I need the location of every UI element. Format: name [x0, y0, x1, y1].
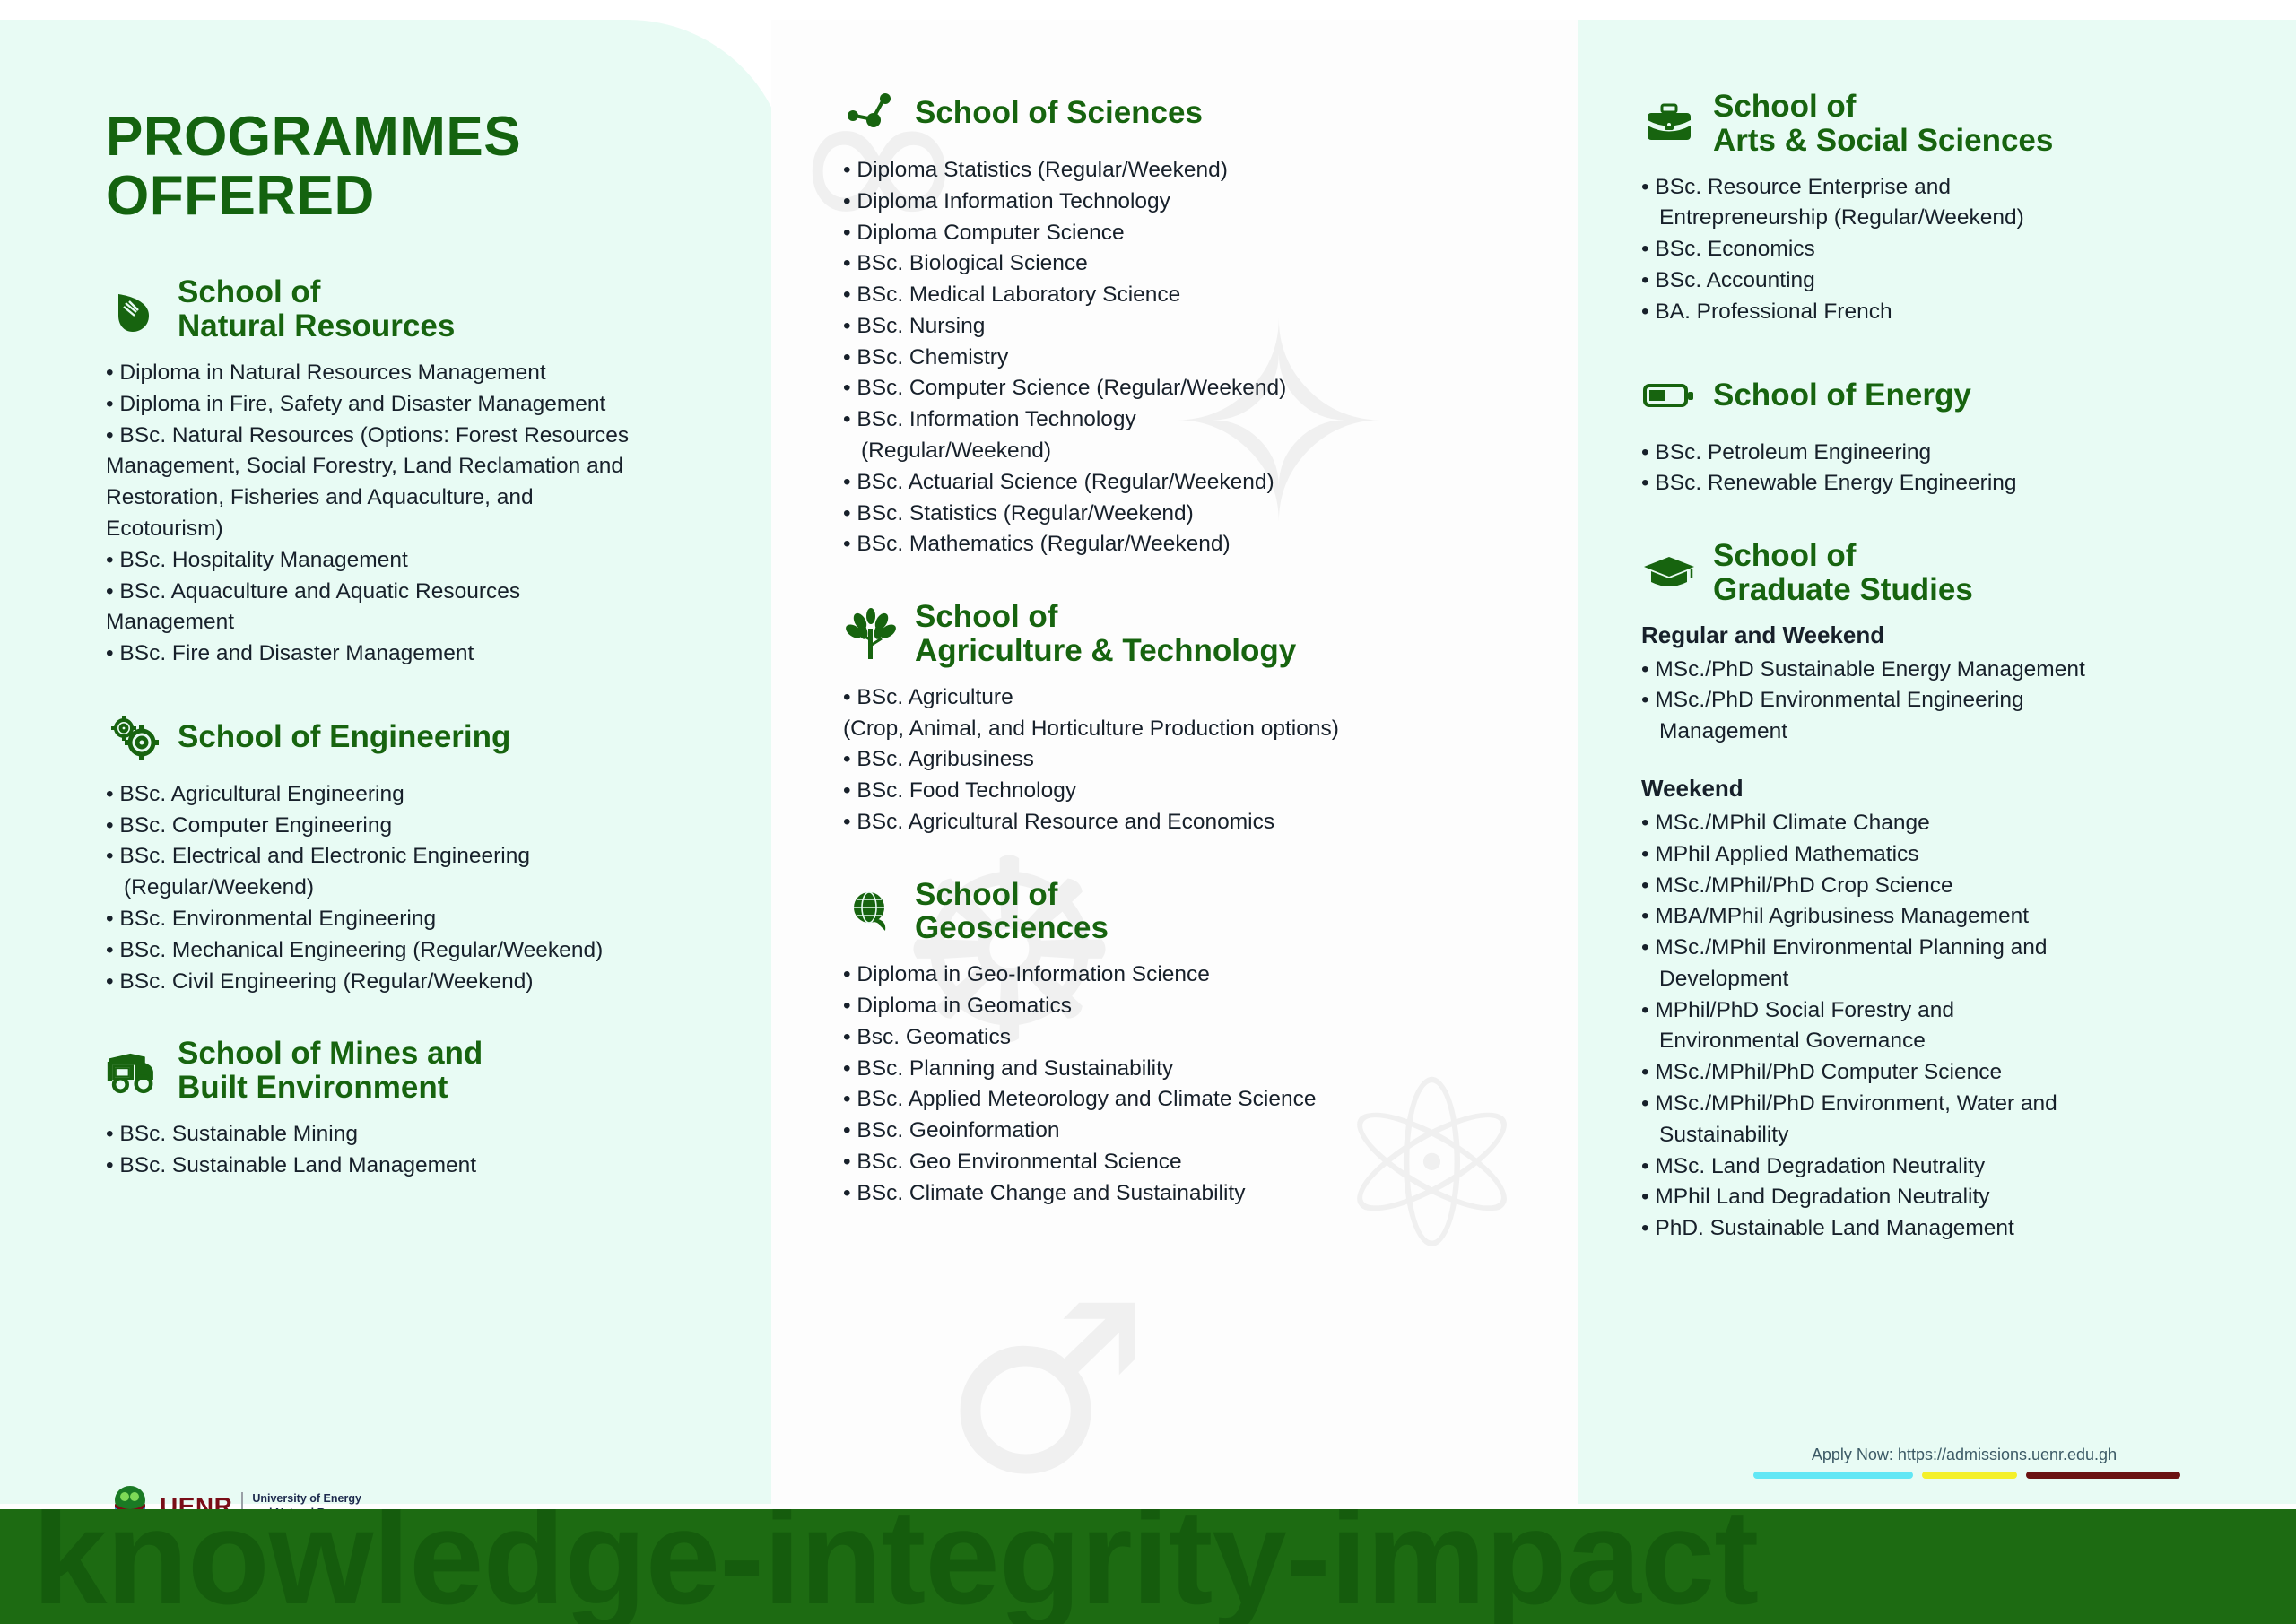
- programme-item: BSc. Mathematics (Regular/Weekend): [843, 529, 1525, 560]
- programme-item: MSc. Land Degradation Neutrality: [1641, 1151, 2233, 1183]
- programme-list: BSc. Sustainable MiningBSc. Sustainable …: [106, 1119, 752, 1182]
- programme-item: BSc. Civil Engineering (Regular/Weekend): [106, 967, 752, 998]
- programme-item: Restoration, Fisheries and Aquaculture, …: [106, 482, 752, 514]
- programme-item: MBA/MPhil Agribusiness Management: [1641, 901, 2233, 933]
- programme-item: BSc. Information Technology: [843, 404, 1525, 436]
- programme-item: Diploma in Natural Resources Management: [106, 358, 752, 389]
- tree-icon: [843, 606, 899, 662]
- programme-item: BSc. Applied Meteorology and Climate Sci…: [843, 1084, 1525, 1116]
- school-header: School of Natural Resources: [106, 275, 752, 343]
- programme-item: BSc. Aquaculture and Aquatic Resources: [106, 577, 752, 608]
- school-name: School of Mines and Built Environment: [178, 1037, 483, 1105]
- programme-item: BSc. Climate Change and Sustainability: [843, 1178, 1525, 1210]
- programme-item: Diploma Statistics (Regular/Weekend): [843, 155, 1525, 187]
- school-name: School of Natural Resources: [178, 275, 455, 343]
- programme-item: BSc. Natural Resources (Options: Forest …: [106, 421, 752, 452]
- programme-item: MSc./MPhil/PhD Environment, Water and: [1641, 1089, 2233, 1120]
- school-block: School of Natural ResourcesDiploma in Na…: [106, 275, 752, 669]
- graduation-cap-icon: [1641, 545, 1697, 601]
- school-block: School of SciencesDiploma Statistics (Re…: [843, 85, 1525, 560]
- programme-item: BSc. Petroleum Engineering: [1641, 438, 2233, 469]
- gears-icon: [106, 709, 161, 765]
- programme-item: Development: [1641, 964, 2233, 995]
- apply-now-link[interactable]: Apply Now: https://admissions.uenr.edu.g…: [1753, 1446, 2175, 1464]
- programme-item: BSc. Agribusiness: [843, 744, 1525, 776]
- programme-list: BSc. Agricultural EngineeringBSc. Comput…: [106, 779, 752, 997]
- briefcase-icon: [1641, 96, 1697, 152]
- programme-item: BA. Professional French: [1641, 297, 2233, 328]
- programme-list: Diploma Statistics (Regular/Weekend)Dipl…: [843, 155, 1525, 560]
- school-name: School of Arts & Social Sciences: [1713, 90, 2053, 158]
- group-spacer: [1641, 748, 2233, 768]
- left-column: PROGRAMMES OFFERED School of Natural Res…: [106, 108, 752, 1220]
- programme-item: MSc./MPhil/PhD Crop Science: [1641, 871, 2233, 902]
- programme-item: Diploma in Geo-Information Science: [843, 960, 1525, 991]
- programme-item: Diploma in Geomatics: [843, 991, 1525, 1022]
- school-header: School of Agriculture & Technology: [843, 600, 1525, 668]
- school-block: School of Agriculture & TechnologyBSc. A…: [843, 600, 1525, 838]
- programme-item: BSc. Resource Enterprise and: [1641, 172, 2233, 204]
- programme-item: Sustainability: [1641, 1120, 2233, 1151]
- school-name: School of Engineering: [178, 720, 510, 754]
- programme-item: Environmental Governance: [1641, 1026, 2233, 1057]
- leaf-droplet-icon: [106, 282, 161, 337]
- school-block: School of EngineeringBSc. Agricultural E…: [106, 709, 752, 997]
- color-bar-cyan: [1753, 1472, 1913, 1479]
- programme-list: BSc. Resource Enterprise andEntrepreneur…: [1641, 172, 2233, 328]
- programme-item: BSc. Computer Science (Regular/Weekend): [843, 373, 1525, 404]
- programme-item: BSc. Sustainable Mining: [106, 1119, 752, 1151]
- programme-list: BSc. Agriculture(Crop, Animal, and Horti…: [843, 682, 1525, 838]
- school-header: School of Graduate Studies: [1641, 539, 2233, 607]
- school-block: School of Arts & Social SciencesBSc. Res…: [1641, 90, 2233, 328]
- programme-item: BSc. Biological Science: [843, 248, 1525, 280]
- color-bar-maroon: [2026, 1472, 2180, 1479]
- banner-tagline: knowledge-integrity-impact: [32, 1509, 1758, 1624]
- programme-item: BSc. Accounting: [1641, 265, 2233, 297]
- page-title: PROGRAMMES OFFERED: [106, 108, 752, 225]
- programme-item: BSc. Fire and Disaster Management: [106, 638, 752, 670]
- globe-icon: [843, 883, 899, 939]
- programme-item: BSc. Geoinformation: [843, 1116, 1525, 1147]
- programme-item: BSc. Renewable Energy Engineering: [1641, 468, 2233, 499]
- color-bar-yellow: [1922, 1472, 2017, 1479]
- programme-item: BSc. Sustainable Land Management: [106, 1151, 752, 1182]
- school-header: School of Engineering: [106, 709, 752, 765]
- programme-item: (Regular/Weekend): [843, 436, 1525, 467]
- school-block: School of GeosciencesDiploma in Geo-Info…: [843, 878, 1525, 1210]
- programme-item: MPhil/PhD Social Forestry and: [1641, 995, 2233, 1027]
- school-name: School of Energy: [1713, 378, 1971, 413]
- school-header: School of Arts & Social Sciences: [1641, 90, 2233, 158]
- school-block: School of Graduate StudiesRegular and We…: [1641, 539, 2233, 1245]
- programme-item: BSc. Electrical and Electronic Engineeri…: [106, 841, 752, 873]
- programme-item: BSc. Hospitality Management: [106, 545, 752, 577]
- programme-item: Management: [1641, 716, 2233, 748]
- school-name: School of Geosciences: [915, 878, 1109, 946]
- programme-item: BSc. Nursing: [843, 311, 1525, 343]
- programme-item: Ecotourism): [106, 514, 752, 545]
- programme-list: BSc. Petroleum EngineeringBSc. Renewable…: [1641, 438, 2233, 500]
- programme-item: (Crop, Animal, and Horticulture Producti…: [843, 714, 1525, 745]
- programme-list: MSc./MPhil Climate ChangeMPhil Applied M…: [1641, 808, 2233, 1245]
- programme-list: Diploma in Natural Resources ManagementD…: [106, 358, 752, 670]
- middle-column: School of SciencesDiploma Statistics (Re…: [843, 85, 1525, 1249]
- programme-item: Diploma in Fire, Safety and Disaster Man…: [106, 389, 752, 421]
- programme-item: BSc. Planning and Sustainability: [843, 1054, 1525, 1085]
- programme-item: MPhil Applied Mathematics: [1641, 839, 2233, 871]
- programme-item: MSc./PhD Environmental Engineering: [1641, 685, 2233, 716]
- apply-color-bars: [1753, 1472, 2175, 1479]
- school-header: School of Energy: [1641, 368, 2233, 423]
- programme-item: Bsc. Geomatics: [843, 1022, 1525, 1054]
- programme-item: BSc. Mechanical Engineering (Regular/Wee…: [106, 935, 752, 967]
- programme-item: MSc./PhD Sustainable Energy Management: [1641, 655, 2233, 686]
- programme-item: Diploma Computer Science: [843, 218, 1525, 249]
- programme-item: MSc./MPhil Climate Change: [1641, 808, 2233, 839]
- programme-item: Diploma Information Technology: [843, 187, 1525, 218]
- school-name: School of Graduate Studies: [1713, 539, 1973, 607]
- programme-list: Diploma in Geo-Information ScienceDiplom…: [843, 960, 1525, 1209]
- programme-item: MSc./MPhil/PhD Computer Science: [1641, 1057, 2233, 1089]
- school-header: School of Geosciences: [843, 878, 1525, 946]
- battery-icon: [1641, 368, 1697, 423]
- school-name: School of Sciences: [915, 96, 1203, 130]
- school-block: School of EnergyBSc. Petroleum Engineeri…: [1641, 368, 2233, 500]
- programme-item: MSc./MPhil Environmental Planning and: [1641, 933, 2233, 964]
- programme-item: (Regular/Weekend): [106, 873, 752, 904]
- programme-item: Entrepreneurship (Regular/Weekend): [1641, 203, 2233, 234]
- programme-group-heading: Regular and Weekend: [1641, 621, 2233, 649]
- programme-item: BSc. Agricultural Resource and Economics: [843, 807, 1525, 838]
- programme-list: MSc./PhD Sustainable Energy ManagementMS…: [1641, 655, 2233, 748]
- molecule-icon: [843, 85, 899, 141]
- programme-item: BSc. Agriculture: [843, 682, 1525, 714]
- programme-item: BSc. Statistics (Regular/Weekend): [843, 499, 1525, 530]
- right-column: School of Arts & Social SciencesBSc. Res…: [1641, 90, 2233, 1284]
- programme-item: BSc. Chemistry: [843, 343, 1525, 374]
- programme-group-heading: Weekend: [1641, 775, 2233, 803]
- programme-item: BSc. Geo Environmental Science: [843, 1147, 1525, 1178]
- school-header: School of Mines and Built Environment: [106, 1037, 752, 1105]
- programme-item: MPhil Land Degradation Neutrality: [1641, 1182, 2233, 1213]
- poster-page: ∞ ✧ ☸ ⚛ ♂ PROGRAMMES OFFERED School of N…: [0, 0, 2296, 1624]
- programme-item: BSc. Actuarial Science (Regular/Weekend): [843, 467, 1525, 499]
- programme-item: Management: [106, 607, 752, 638]
- programme-item: BSc. Medical Laboratory Science: [843, 280, 1525, 311]
- school-name: School of Agriculture & Technology: [915, 600, 1296, 668]
- programme-item: BSc. Agricultural Engineering: [106, 779, 752, 811]
- school-block: School of Mines and Built EnvironmentBSc…: [106, 1037, 752, 1181]
- mining-truck-icon: [106, 1043, 161, 1099]
- apply-now-block[interactable]: Apply Now: https://admissions.uenr.edu.g…: [1753, 1446, 2175, 1479]
- programme-item: BSc. Economics: [1641, 234, 2233, 265]
- programme-item: BSc. Environmental Engineering: [106, 904, 752, 935]
- school-header: School of Sciences: [843, 85, 1525, 141]
- programme-item: PhD. Sustainable Land Management: [1641, 1213, 2233, 1245]
- programme-item: Management, Social Forestry, Land Reclam…: [106, 451, 752, 482]
- bottom-banner: knowledge-integrity-impact: [0, 1509, 2296, 1624]
- programme-item: BSc. Food Technology: [843, 776, 1525, 807]
- programme-item: BSc. Computer Engineering: [106, 811, 752, 842]
